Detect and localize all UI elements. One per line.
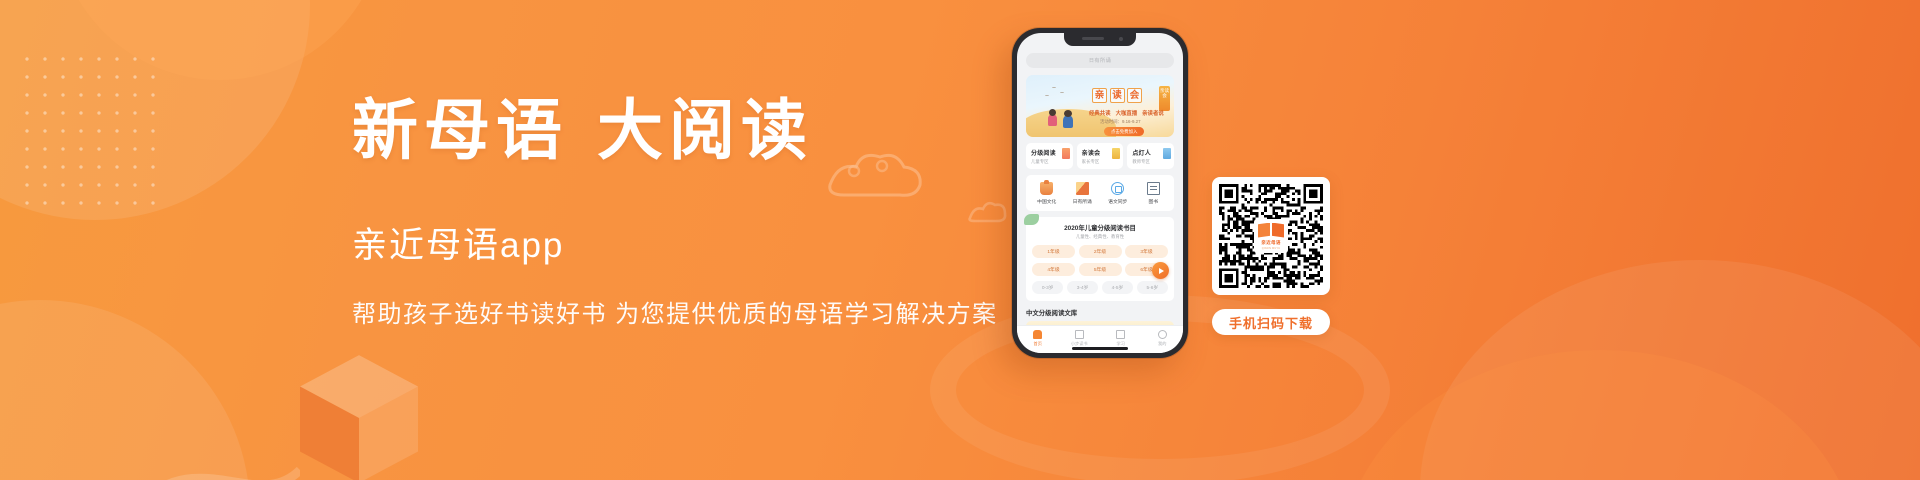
nav-item-profile[interactable]: 我的 [1142,330,1184,347]
section-title: 中文分级阅读文库 [1026,308,1174,317]
quick-icon-label: 语文同步 [1100,198,1136,205]
app-hero-banner[interactable]: 亲 读 会 亲读会 经典共读 大咖直播 亲读者说 活动时间：9.16-9.27 … [1026,75,1174,137]
nav-item-reading[interactable]: 小步读书 [1059,330,1101,347]
hero-date: 活动时间：9.16-9.27 [1100,119,1141,125]
search-placeholder: 日有所诵 [1089,57,1111,64]
qr-logo-subtitle: QINJIN MUYU [1262,247,1280,250]
banner-copy: 新母语 大阅读 亲近母语app 帮助孩子选好书读好书 为您提供优质的母语学习解决… [352,92,1012,329]
grade-chip[interactable]: 1年级 [1032,245,1075,258]
decorative-circle-top-left [0,0,310,220]
grade-chip[interactable]: 4年级 [1032,263,1075,276]
clipboard-icon [1116,330,1125,339]
age-chip[interactable]: 3-4岁 [1067,281,1098,294]
book-open-icon [1076,182,1089,195]
promo-banner: 新母语 大阅读 亲近母语app 帮助孩子选好书读好书 为您提供优质的母语学习解决… [0,0,1920,480]
hero-subtitle: 经典共读 [1089,109,1111,117]
books-icon [1147,182,1160,195]
illustration-child-2 [1063,115,1073,128]
quick-icon-row: 中国文化 日有所诵 语文同步 图书 [1026,175,1174,211]
nav-item-label: 我的 [1142,341,1184,347]
zone-card-subtitle: 儿童专区 [1031,159,1068,165]
zone-card-graded-reading[interactable]: 分级阅读 儿童专区 [1026,143,1073,169]
zone-card-subtitle: 教师专区 [1132,159,1169,165]
book-icon [1062,148,1070,159]
hero-ribbon: 亲读会 [1159,86,1170,111]
quick-icon-chinese-sync[interactable]: 语文同步 [1100,182,1136,205]
decorative-circle-bottom-left [0,300,250,480]
nav-item-label: 学习 [1100,341,1142,347]
quick-icon-books[interactable]: 图书 [1136,182,1172,205]
age-chip[interactable]: 5-6岁 [1137,281,1168,294]
decorative-cube-icon [300,355,418,480]
hero-subtitle: 大咖直播 [1116,109,1138,117]
lantern-icon [1040,182,1053,195]
grade-chip[interactable]: 2年级 [1079,245,1122,258]
hero-title-char: 亲 [1092,88,1107,103]
quick-icon-chinese-culture[interactable]: 中国文化 [1029,182,1065,205]
grade-chip-row: 1年级 2年级 3年级 [1032,245,1168,258]
zone-cards: 分级阅读 儿童专区 亲读会 家长专区 点灯人 教师专区 [1026,143,1174,169]
search-input[interactable]: 日有所诵 [1026,53,1174,68]
quick-icon-label: 日有所诵 [1065,198,1101,205]
hero-subtitles: 经典共读 大咖直播 亲读者说 [1089,109,1164,117]
zone-card-parent-club[interactable]: 亲读会 家长专区 [1077,143,1124,169]
booklist-title: 2020年儿童分级阅读书目 [1032,223,1168,232]
decorative-circle-top-left-inner [55,0,385,80]
decorative-arc-bottom-right [1420,260,1920,480]
qr-center-logo: 亲近母语 QINJIN MUYU [1254,219,1288,253]
age-chip[interactable]: 0-3岁 [1032,281,1063,294]
decorative-dot-grid [18,50,158,210]
hero-title-char: 读 [1110,88,1125,103]
play-video-button[interactable] [1152,262,1169,279]
bird-icon [1052,87,1056,89]
qr-code: 亲近母语 QINJIN MUYU [1219,184,1323,288]
phone-mockup: 日有所诵 亲 读 会 亲读会 经典共读 大咖直播 亲读者说 [1012,28,1188,358]
phone-screen: 日有所诵 亲 读 会 亲读会 经典共读 大咖直播 亲读者说 [1017,33,1183,353]
bird-icon [1060,92,1064,94]
nav-item-label: 小步读书 [1059,341,1101,347]
grade-chip[interactable]: 5年级 [1079,263,1122,276]
age-chip-row: 0-3岁 3-4岁 4-5岁 5-6岁 [1032,281,1168,294]
hero-subtitle: 亲读者说 [1142,109,1164,117]
quick-icon-label: 图书 [1136,198,1172,205]
decorative-wave-icon [0,400,300,480]
grade-chip-row: 4年级 5年级 6年级 [1032,263,1168,276]
booklist-subtitle: 儿童性、经典性、教育性 [1032,234,1168,240]
book-icon [1112,148,1120,159]
illustration-child-1 [1048,114,1057,126]
banner-description: 帮助孩子选好书读好书 为您提供优质的母语学习解决方案 [352,294,1012,329]
home-icon [1033,330,1042,339]
phone-notch [1064,33,1136,46]
nav-item-home[interactable]: 首页 [1017,330,1059,347]
book-logo-icon [1258,223,1284,238]
bird-icon [1045,95,1049,97]
quick-icon-label: 中国文化 [1029,198,1065,205]
book-icon [1163,148,1171,159]
sync-icon [1111,182,1124,195]
qr-logo-name: 亲近母语 [1261,240,1281,246]
app-name-label: 亲近母语app [352,217,1012,268]
age-chip[interactable]: 4-5岁 [1102,281,1133,294]
home-indicator [1072,347,1128,350]
zone-card-teacher[interactable]: 点灯人 教师专区 [1127,143,1174,169]
user-icon [1158,330,1167,339]
decorative-arc-bottom-right-inner [1340,350,1860,480]
book-icon [1075,330,1084,339]
zone-card-subtitle: 家长专区 [1082,159,1119,165]
page-title: 新母语 大阅读 [352,92,1012,170]
quick-icon-daily-recitation[interactable]: 日有所诵 [1065,182,1101,205]
booklist-card: 2020年儿童分级阅读书目 儿童性、经典性、教育性 1年级 2年级 3年级 4年… [1026,217,1174,301]
qr-code-card: 亲近母语 QINJIN MUYU [1212,177,1330,295]
nav-item-study[interactable]: 学习 [1100,330,1142,347]
nav-item-label: 首页 [1017,341,1059,347]
hero-title-char: 会 [1127,88,1142,103]
hero-join-button[interactable]: 点击免费加入 [1104,127,1144,136]
grade-chip[interactable]: 3年级 [1125,245,1168,258]
scan-download-button[interactable]: 手机扫码下载 [1212,309,1330,335]
hero-title: 亲 读 会 [1092,88,1142,103]
